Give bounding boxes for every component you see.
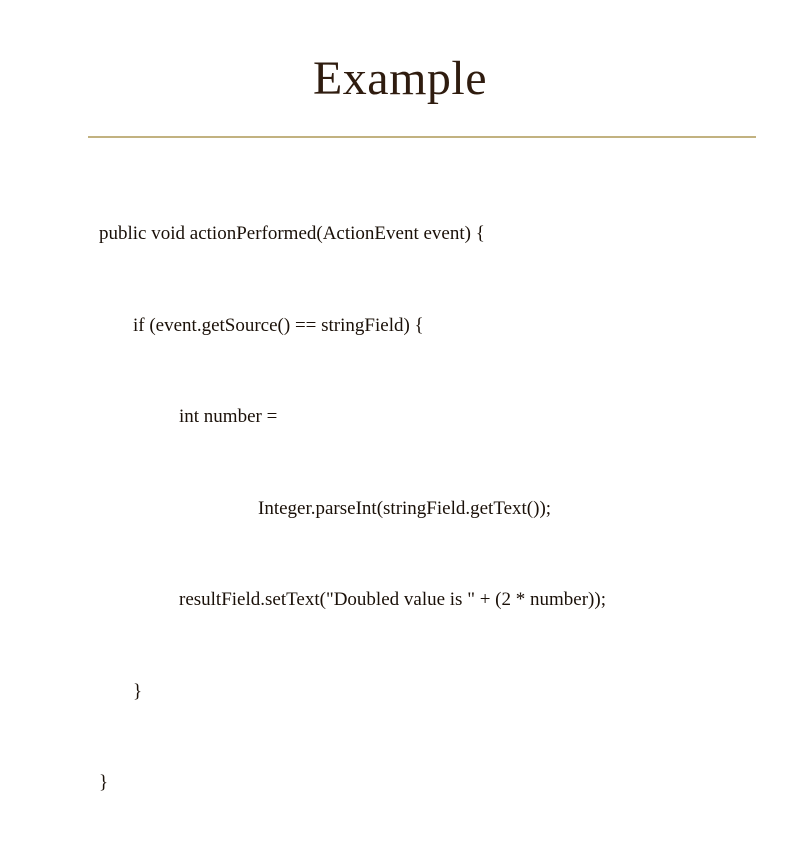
- slide: Example public void actionPerformed(Acti…: [0, 0, 800, 600]
- page-title: Example: [0, 50, 800, 108]
- code-line: public void actionPerformed(ActionEvent …: [99, 219, 759, 250]
- code-line: resultField.setText("Doubled value is " …: [99, 585, 759, 616]
- code-line: if (event.getSource() == stringField) {: [99, 311, 759, 342]
- code-line: }: [99, 768, 759, 799]
- code-line: }: [99, 677, 759, 708]
- code-line: Integer.parseInt(stringField.getText());: [99, 494, 759, 525]
- code-block: public void actionPerformed(ActionEvent …: [99, 158, 759, 860]
- code-line: int number =: [99, 402, 759, 433]
- title-divider: [88, 136, 756, 138]
